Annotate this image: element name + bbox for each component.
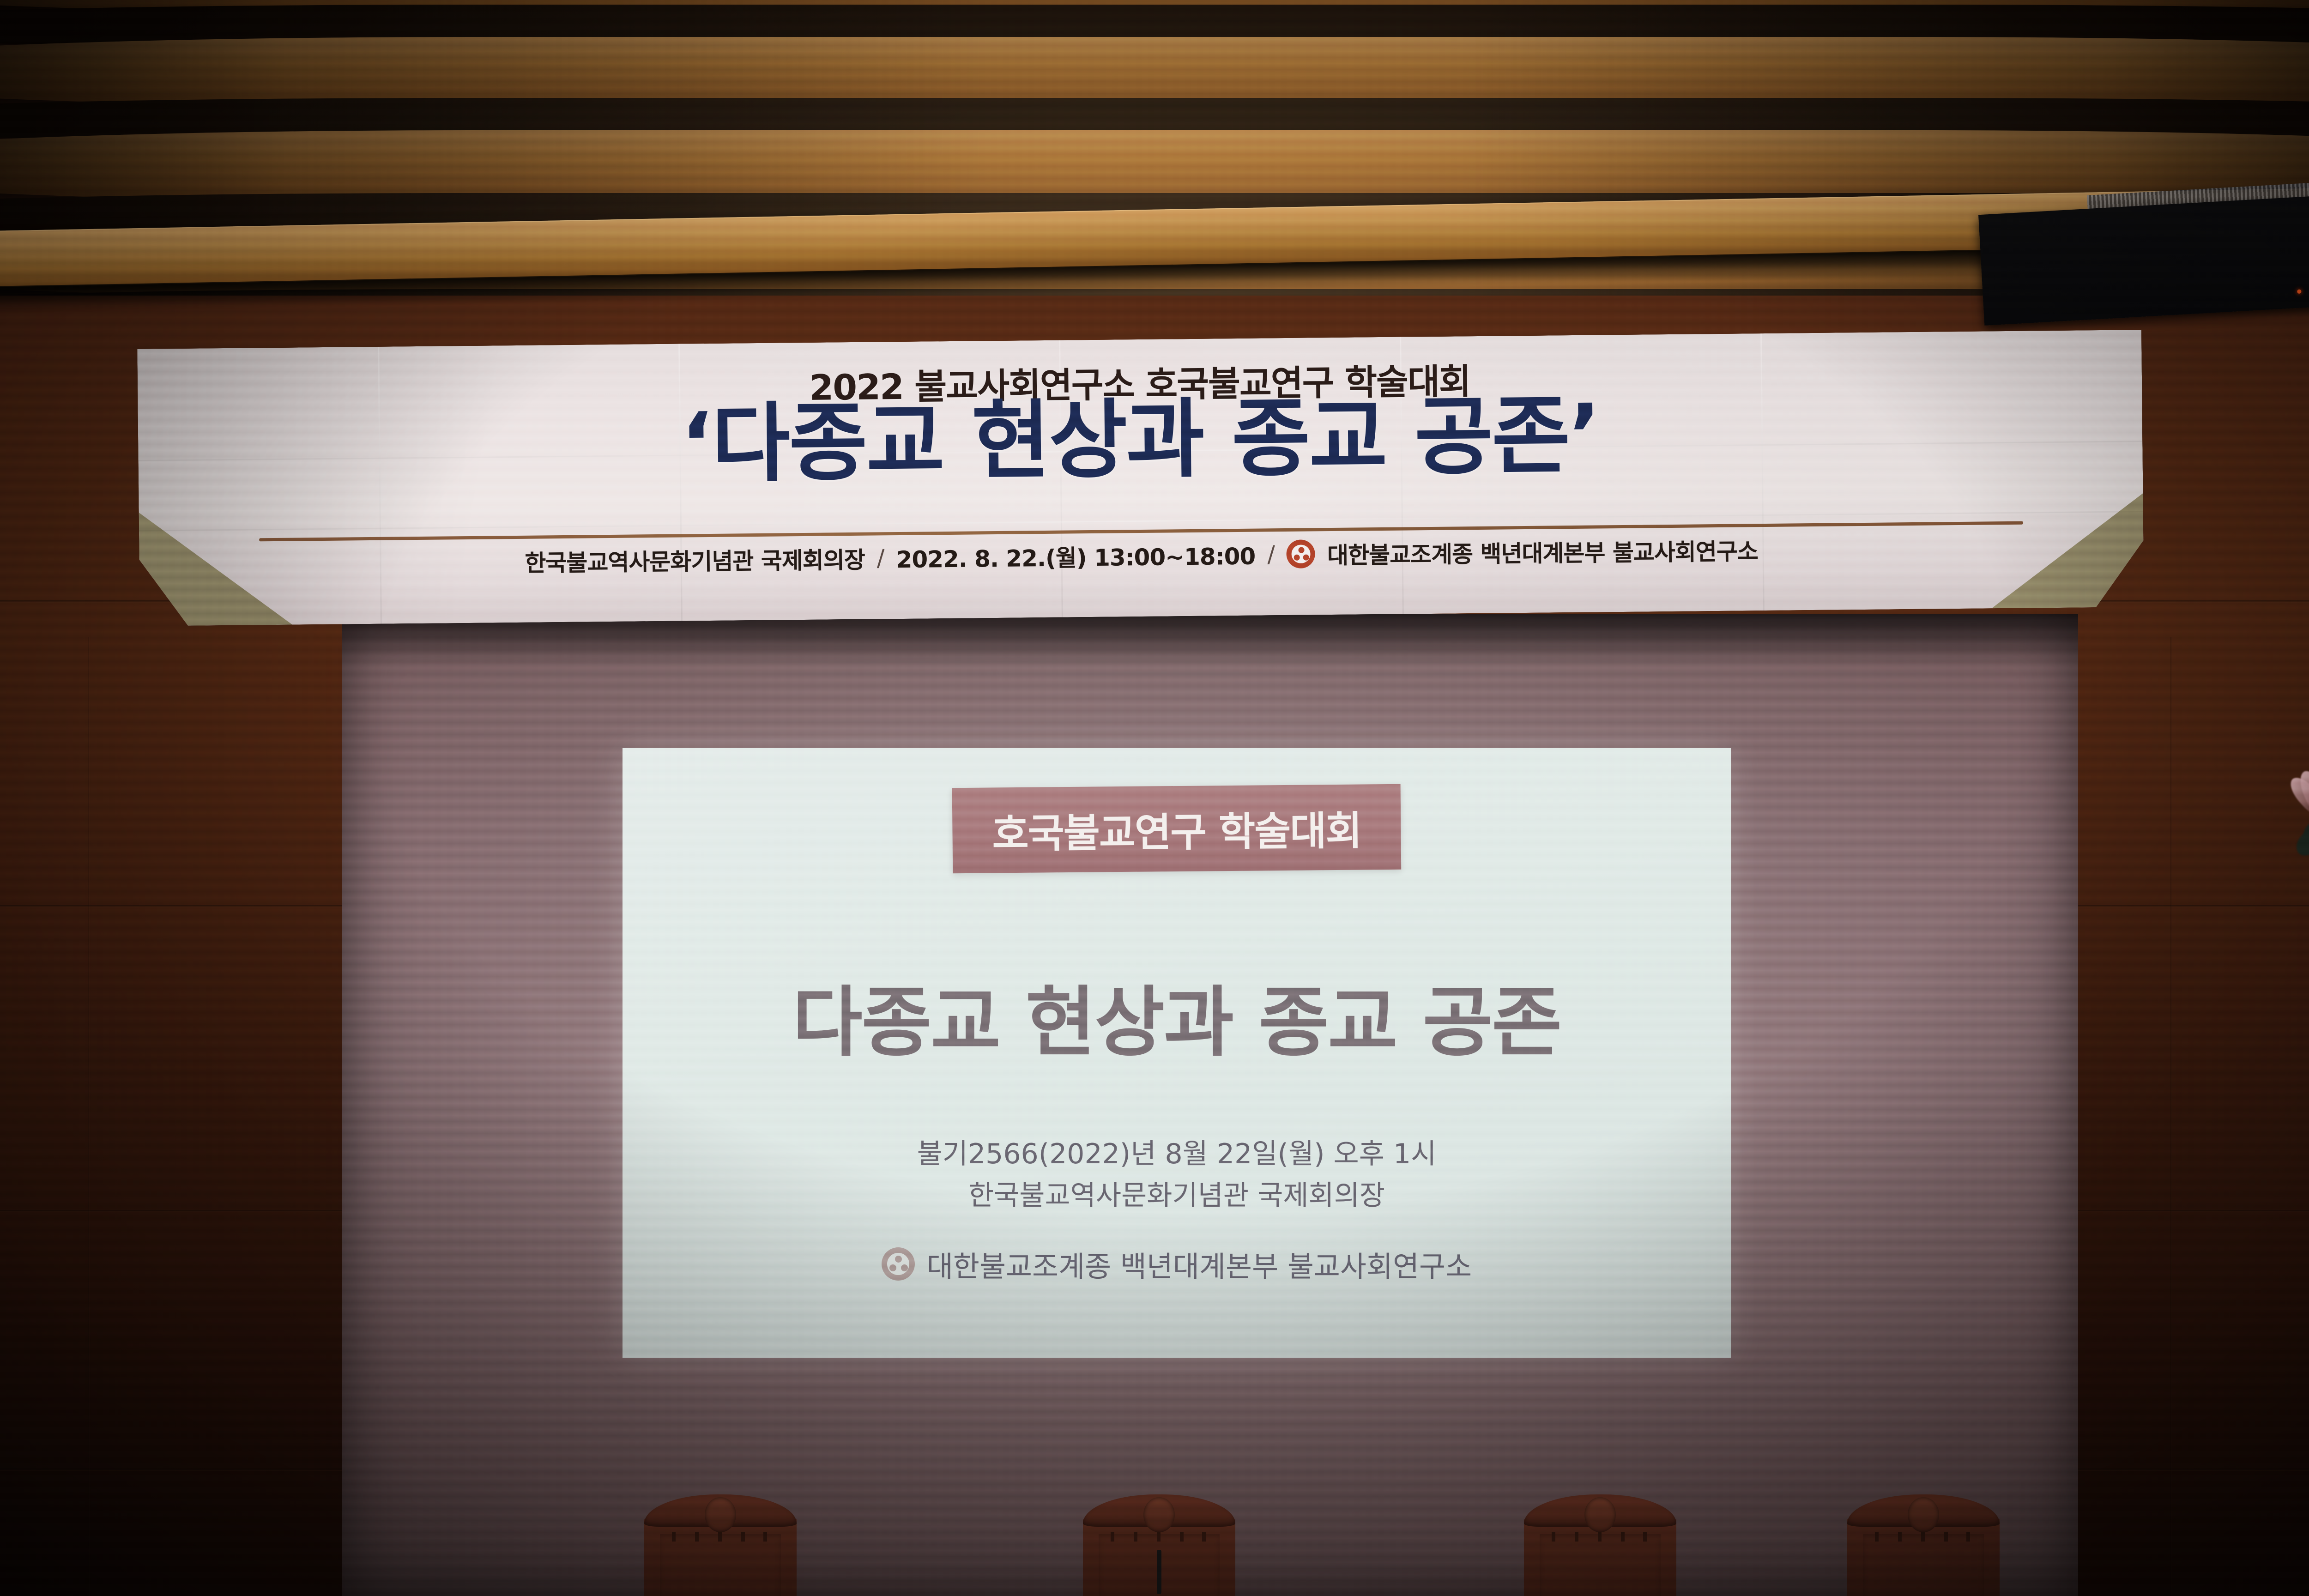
ceiling-projector-device [1978, 192, 2309, 326]
banner-separator: / [1267, 541, 1275, 568]
carved-wooden-chair [644, 1494, 797, 1596]
carved-wooden-chair [1847, 1494, 2000, 1596]
slide-title: 다종교 현상과 종교 공존 [623, 961, 1731, 1071]
banner-organizer-text: 대한불교조계종 백년대계본부 불교사회연구소 [1327, 533, 1758, 570]
carved-wooden-chair [1524, 1494, 1676, 1596]
banner-main-title: ‘다종교 현상과 종교 공존’ [138, 385, 2143, 494]
carved-wooden-chair [1083, 1494, 1235, 1596]
slide-date-line: 불기2566(2022)년 8월 22일(월) 오후 1시 [623, 1131, 1731, 1172]
wall-seam [2170, 637, 2172, 1596]
slide-organizer-row: 대한불교조계종 백년대계본부 불교사회연구소 [623, 1243, 1731, 1285]
event-banner: 2022 불교사회연구소 호국불교연구 학술대회 ‘다종교 현상과 종교 공존’… [137, 330, 2144, 626]
wall-seam [88, 637, 90, 1596]
jogye-wheel-icon [882, 1247, 915, 1281]
slide-badge: 호국불교연구 학술대회 [952, 784, 1402, 873]
slide-organizer-text: 대한불교조계종 백년대계본부 불교사회연구소 [927, 1243, 1472, 1285]
jogye-wheel-icon [1287, 539, 1316, 568]
conference-stage-photo: 2022 불교사회연구소 호국불교연구 학술대회 ‘다종교 현상과 종교 공존’… [0, 0, 2309, 1596]
banner-datetime-text: 2022. 8. 22.(월) 13:00~18:00 [896, 538, 1255, 574]
projector-led-indicator [2297, 290, 2301, 294]
lotus-flower-wall-lamp [2277, 737, 2309, 852]
slide-venue-line: 한국불교역사문화기념관 국제회의장 [623, 1173, 1731, 1213]
banner-separator: / [876, 544, 884, 571]
projected-slide: 호국불교연구 학술대회 다종교 현상과 종교 공존 불기2566(2022)년 … [623, 748, 1731, 1358]
banner-venue-text: 한국불교역사문화기념관 국제회의장 [525, 542, 865, 578]
